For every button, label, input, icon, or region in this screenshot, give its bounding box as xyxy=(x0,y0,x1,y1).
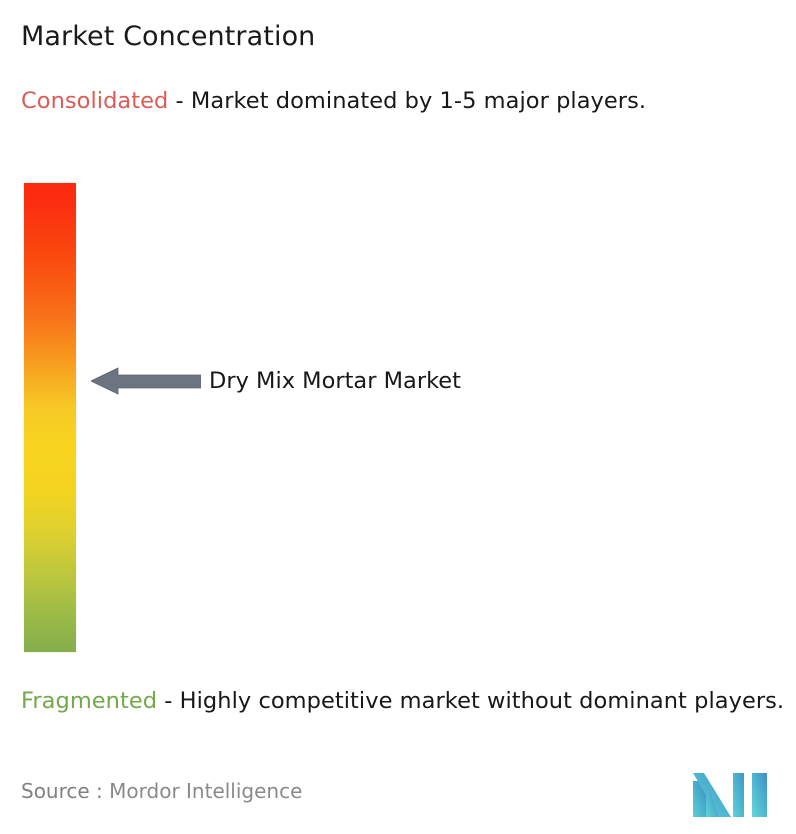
source-attribution: Source : Mordor Intelligence xyxy=(21,778,302,804)
market-concentration-infographic: Market Concentration Consolidated - Mark… xyxy=(0,0,796,834)
mordor-intelligence-logo-icon xyxy=(693,767,767,819)
source-value: Mordor Intelligence xyxy=(109,779,302,803)
legend-consolidated: Consolidated - Market dominated by 1-5 m… xyxy=(21,86,773,117)
page-title: Market Concentration xyxy=(21,20,315,54)
legend-fragmented: Fragmented - Highly competitive market w… xyxy=(21,686,791,717)
legend-description-fragmented: - Highly competitive market without domi… xyxy=(157,688,784,714)
legend-term-consolidated: Consolidated xyxy=(21,88,168,114)
concentration-gradient-bar xyxy=(24,183,76,652)
market-pointer-label: Dry Mix Mortar Market xyxy=(209,367,461,395)
source-label: Source : xyxy=(21,779,103,803)
legend-term-fragmented: Fragmented xyxy=(21,688,157,714)
legend-description-consolidated: - Market dominated by 1-5 major players. xyxy=(168,88,646,114)
market-pointer-arrow-icon xyxy=(91,366,201,396)
